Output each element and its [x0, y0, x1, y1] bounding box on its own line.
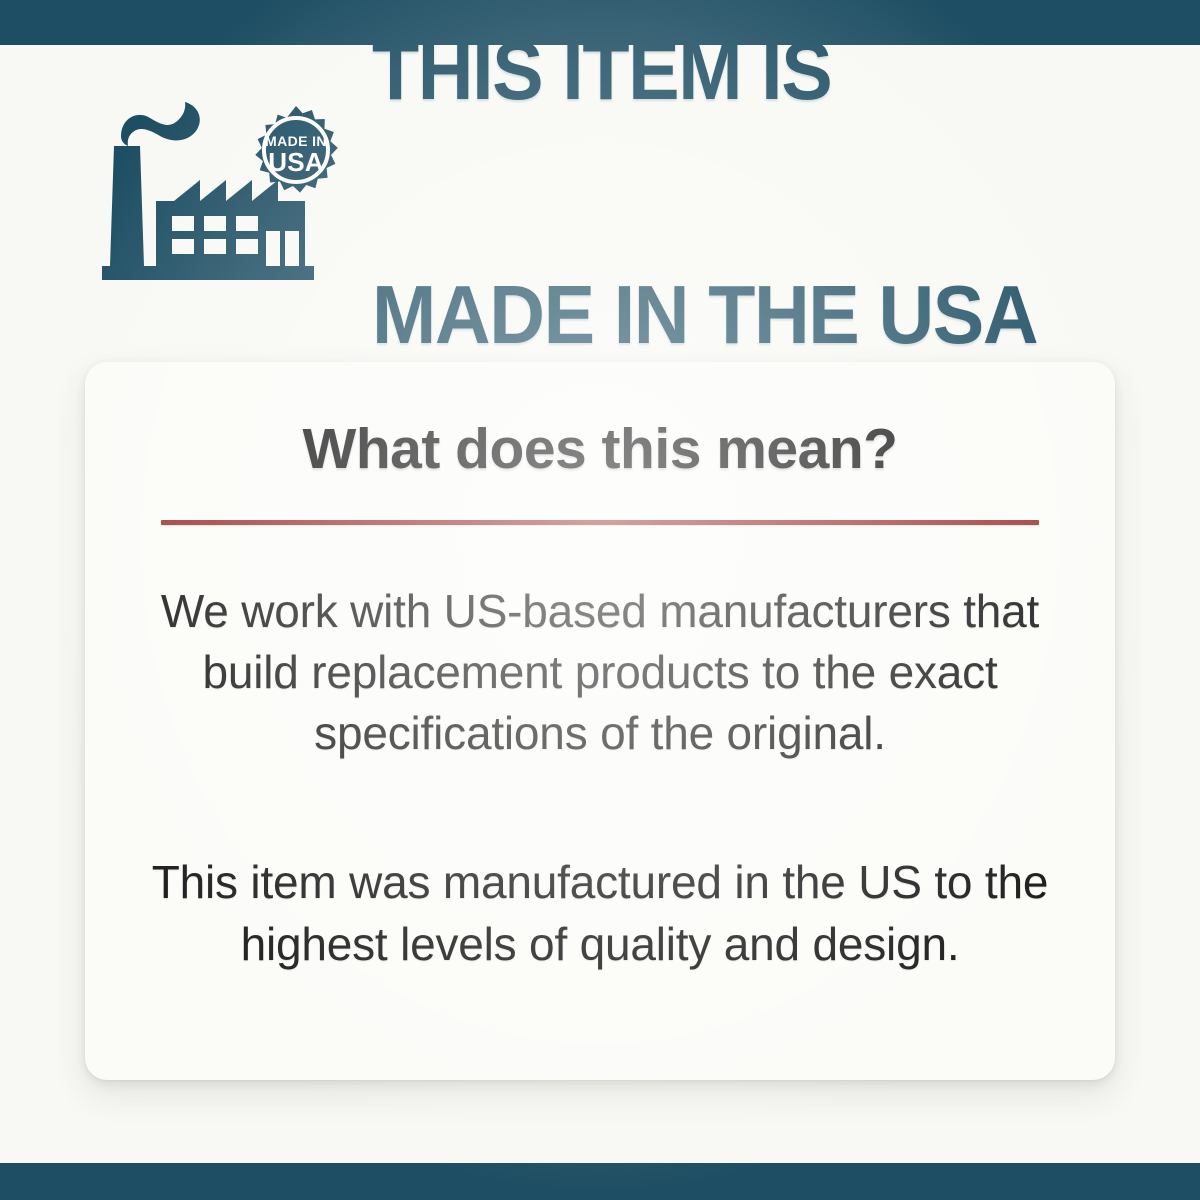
page-title-line-2: MADE IN THE USA [372, 274, 1037, 355]
brand-mark: MADE IN USA [100, 98, 350, 288]
info-card: What does this mean? We work with US-bas… [85, 362, 1115, 1080]
page-root: MADE IN USA THIS ITEM IS MADE IN THE USA… [0, 0, 1200, 1200]
bottom-accent-band [0, 1163, 1200, 1200]
factory-icon: MADE IN USA [100, 98, 350, 288]
made-in-usa-seal-icon: MADE IN USA [255, 106, 337, 193]
card-paragraph-2: This item was manufactured in the US to … [150, 764, 1050, 974]
seal-line2-text: USA [268, 147, 324, 177]
card-paragraph-1: We work with US-based manufacturers that… [150, 525, 1050, 765]
header: MADE IN USA THIS ITEM IS MADE IN THE USA [0, 88, 1200, 298]
page-title-line-1: THIS ITEM IS [372, 30, 1037, 111]
card-heading: What does this mean? [135, 362, 1065, 480]
